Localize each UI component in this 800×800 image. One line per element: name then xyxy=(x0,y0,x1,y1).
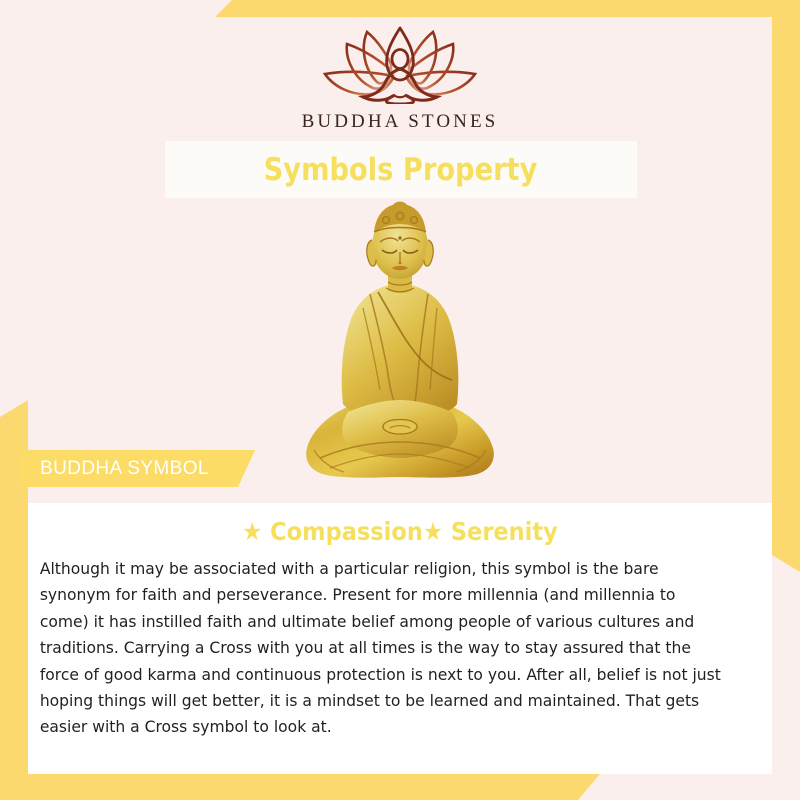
title-banner: Symbols Property xyxy=(165,141,637,198)
lotus-meditation-icon xyxy=(315,26,485,104)
golden-seated-buddha-statue xyxy=(300,198,500,486)
section-body-text: Although it may be associated with a par… xyxy=(36,556,731,741)
brand-wordmark: BUDDHA STONES xyxy=(302,111,499,133)
buddha-symbol-ribbon: BUDDHA SYMBOL xyxy=(20,450,255,487)
page-title: Symbols Property xyxy=(264,152,538,188)
ribbon-label: BUDDHA SYMBOL xyxy=(20,458,209,480)
bottom-yellow-band xyxy=(0,774,600,800)
content-panel: ★ Compassion★ Serenity Although it may b… xyxy=(28,503,772,774)
brand-header: BUDDHA STONES xyxy=(0,0,800,133)
section-headline: ★ Compassion★ Serenity xyxy=(72,517,727,546)
